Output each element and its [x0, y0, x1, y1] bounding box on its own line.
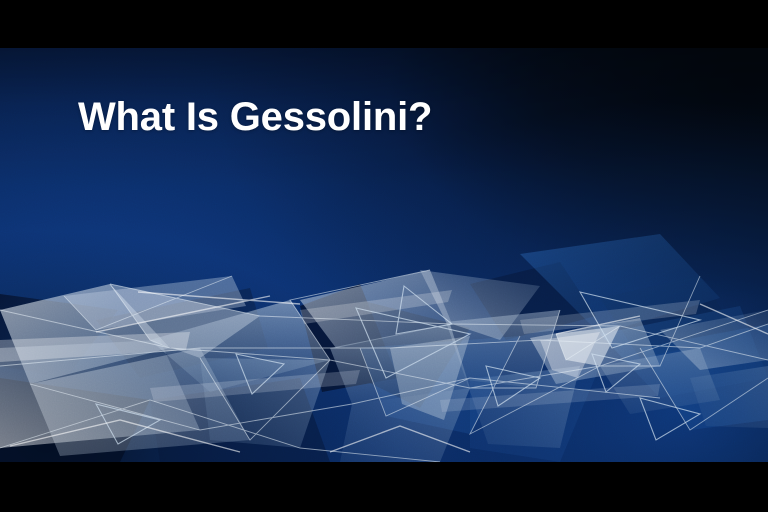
hero-banner: What Is Gessolini?: [0, 0, 768, 512]
page-title: What Is Gessolini?: [78, 96, 432, 139]
letterbox-bar-top: [0, 0, 768, 48]
letterbox-bar-bottom: [0, 462, 768, 512]
